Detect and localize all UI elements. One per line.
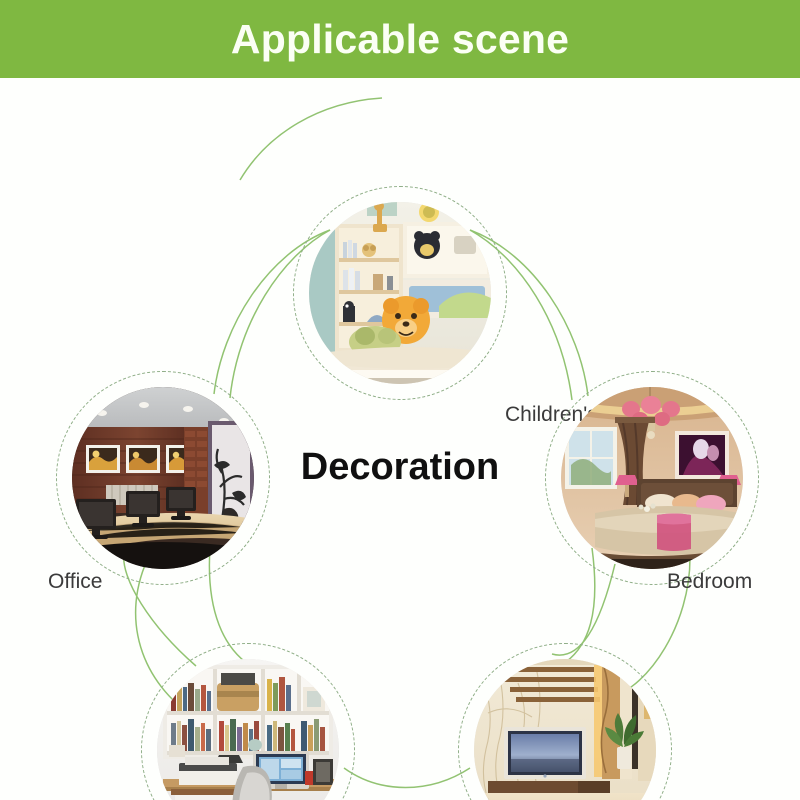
living-room-illustration — [474, 659, 656, 800]
scene-node-office[interactable]: Office — [56, 371, 270, 585]
photo-bedroom — [561, 387, 743, 569]
scene-diagram: Decoration — [0, 78, 800, 800]
arc-living-study — [344, 768, 470, 788]
header-banner: Applicable scene — [0, 0, 800, 78]
bedroom-illustration — [561, 387, 743, 569]
photo-office — [72, 387, 254, 569]
scene-node-living-room[interactable]: Living room — [458, 643, 672, 800]
page-title: Applicable scene — [231, 19, 569, 60]
photo-study — [157, 659, 339, 800]
scene-node-bedroom[interactable]: Bedroom — [545, 371, 759, 585]
scene-node-childrens-room[interactable]: Children's room — [293, 186, 507, 400]
photo-childrens-room — [309, 202, 491, 384]
study-illustration — [157, 659, 339, 800]
photo-living-room — [474, 659, 656, 800]
scene-label-office: Office — [48, 571, 102, 592]
childrens-room-illustration — [309, 202, 491, 384]
scene-label-bedroom: Bedroom — [667, 571, 752, 592]
office-illustration — [72, 387, 254, 569]
scene-node-study[interactable]: Study — [141, 643, 355, 800]
applicable-scene-infographic: Applicable scene — [0, 0, 800, 800]
